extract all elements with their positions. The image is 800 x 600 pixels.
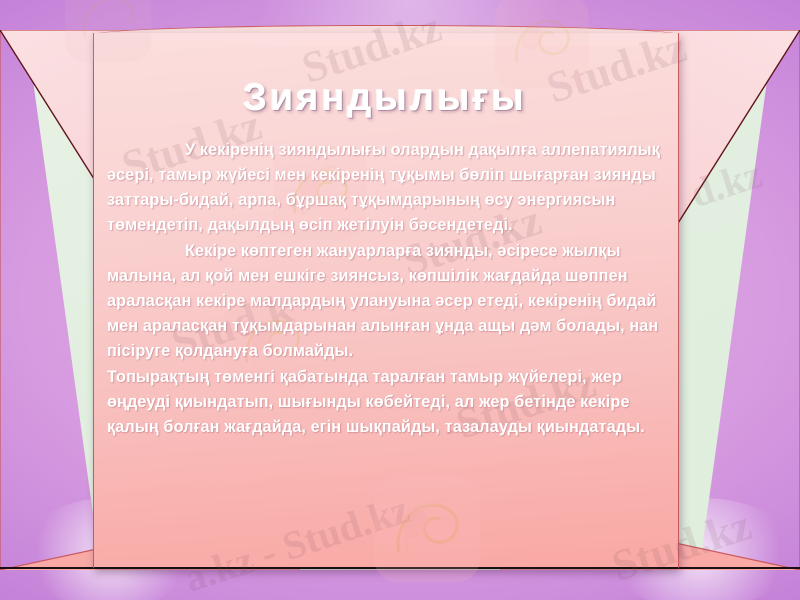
paragraph: У кекіренің зияндылығы олардын дақылға а… bbox=[107, 138, 663, 238]
paragraph: Кекіре көптеген жануарларға зиянды, әсір… bbox=[107, 239, 663, 364]
paragraph: Топырақтың төменгі қабатында таралған та… bbox=[107, 365, 663, 440]
slide-body: У кекіренің зияндылығы олардын дақылға а… bbox=[107, 138, 663, 440]
slide-content: Зияндылығы У кекіренің зияндылығы оларды… bbox=[93, 33, 677, 567]
presentation-slide: Stud.kz Stud.kz Stud.kz Stud.kz -Stud.kz… bbox=[0, 0, 800, 600]
page-title: Зияндылығы bbox=[107, 77, 663, 120]
